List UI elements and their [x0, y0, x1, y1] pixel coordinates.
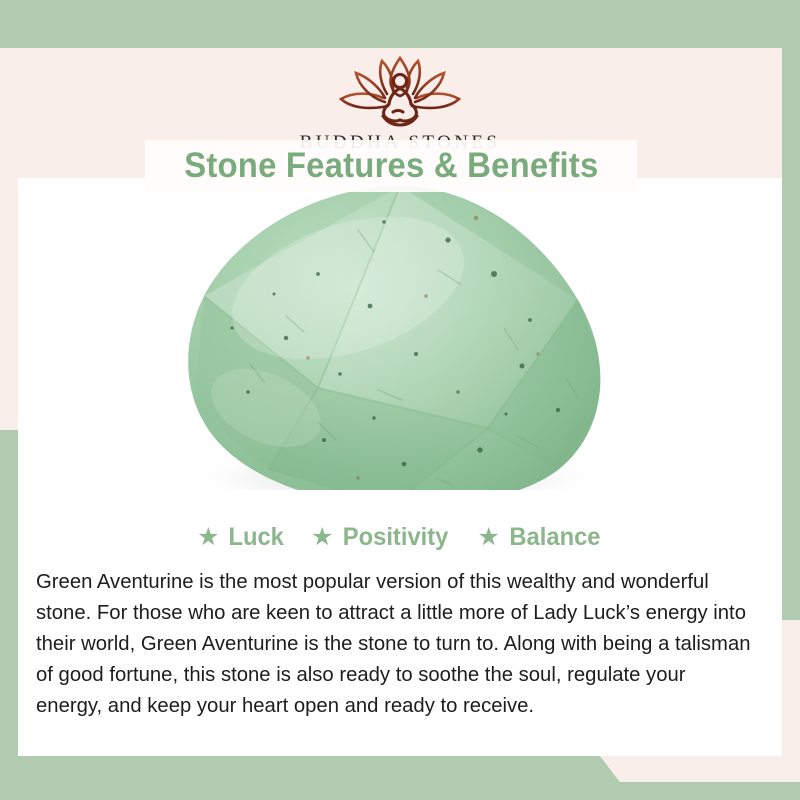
frame-border-right: [782, 0, 800, 620]
stone-description: Green Aventurine is the most popular ver…: [36, 566, 753, 721]
hero-image: Green Aventurine: [18, 178, 782, 490]
lotus-meditation-figure-icon: [325, 50, 475, 130]
feature-item-positivity: ★ Positivity: [311, 523, 452, 552]
feature-list: ★ Luck ★ Positivity ★ Balance: [18, 509, 782, 552]
frame-border-left: [0, 430, 18, 770]
page-title: Stone Features & Benefits: [184, 146, 598, 186]
feature-label: Luck: [228, 523, 283, 552]
content-card: BUDDHA STONES Stone Features & Benefits: [18, 48, 782, 756]
title-banner: Stone Features & Benefits: [145, 140, 637, 192]
frame-border-top: [0, 0, 800, 48]
feature-label: Positivity: [343, 523, 449, 552]
feature-item-luck: ★ Luck: [197, 523, 285, 552]
poster-root: BUDDHA STONES Stone Features & Benefits: [0, 0, 800, 800]
feature-item-balance: ★ Balance: [478, 523, 603, 552]
green-aventurine-stone-illustration: [18, 178, 782, 490]
star-icon: ★: [197, 525, 219, 550]
feature-label: Balance: [509, 523, 600, 552]
content-body: ★ Luck ★ Positivity ★ Balance Green Aven…: [18, 509, 782, 756]
star-icon: ★: [311, 525, 333, 550]
star-icon: ★: [478, 525, 500, 550]
